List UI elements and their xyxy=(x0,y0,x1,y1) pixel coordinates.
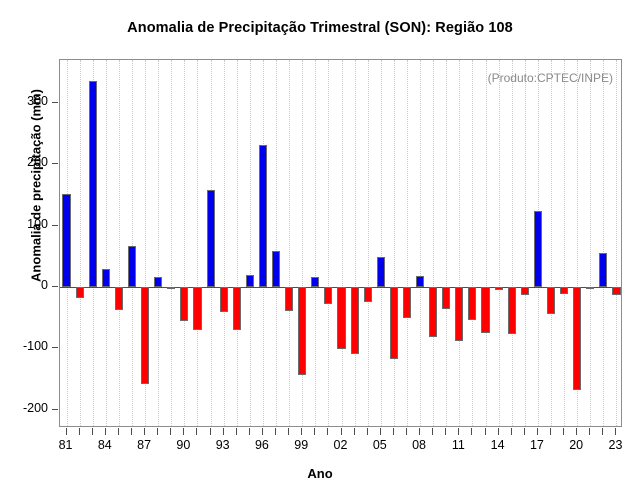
x-tick xyxy=(236,428,237,435)
x-tick-label: 96 xyxy=(247,438,277,452)
gridline xyxy=(603,60,604,426)
y-tick-label: -100 xyxy=(0,339,48,353)
x-tick xyxy=(341,428,342,435)
x-tick xyxy=(432,428,433,435)
x-axis-title: Ano xyxy=(0,466,640,481)
bar-94 xyxy=(233,287,241,330)
gridline xyxy=(355,60,356,426)
gridline xyxy=(250,60,251,426)
x-tick-label: 02 xyxy=(326,438,356,452)
bar-93 xyxy=(220,287,228,312)
x-tick-label: 84 xyxy=(90,438,120,452)
chart-title: Anomalia de Precipitação Trimestral (SON… xyxy=(0,20,640,36)
bar-02 xyxy=(337,287,345,349)
x-tick xyxy=(550,428,551,435)
bar-19 xyxy=(560,287,568,294)
gridline xyxy=(381,60,382,426)
bar-04 xyxy=(364,287,372,302)
gridline xyxy=(106,60,107,426)
x-tick xyxy=(210,428,211,435)
x-tick xyxy=(157,428,158,435)
gridline xyxy=(499,60,500,426)
x-tick xyxy=(301,428,302,435)
gridline xyxy=(315,60,316,426)
y-tick xyxy=(52,102,58,103)
x-tick xyxy=(589,428,590,435)
gridline xyxy=(459,60,460,426)
x-tick-label: 05 xyxy=(365,438,395,452)
bar-07 xyxy=(403,287,411,318)
x-tick xyxy=(393,428,394,435)
x-tick xyxy=(288,428,289,435)
bar-96 xyxy=(259,145,267,287)
x-tick xyxy=(458,428,459,435)
bar-82 xyxy=(76,287,84,298)
bar-92 xyxy=(207,190,215,287)
x-tick xyxy=(170,428,171,435)
gridline xyxy=(158,60,159,426)
bar-87 xyxy=(141,287,149,384)
x-tick xyxy=(196,428,197,435)
bar-11 xyxy=(455,287,463,341)
gridline xyxy=(289,60,290,426)
x-tick xyxy=(485,428,486,435)
gridline xyxy=(328,60,329,426)
gridline xyxy=(237,60,238,426)
bar-85 xyxy=(115,287,123,310)
x-tick xyxy=(275,428,276,435)
x-tick xyxy=(498,428,499,435)
x-tick xyxy=(445,428,446,435)
x-tick xyxy=(537,428,538,435)
bar-18 xyxy=(547,287,555,314)
bar-98 xyxy=(285,287,293,311)
bar-01 xyxy=(324,287,332,304)
gridline xyxy=(590,60,591,426)
gridline xyxy=(551,60,552,426)
y-tick xyxy=(52,347,58,348)
bar-17 xyxy=(534,211,542,287)
x-tick xyxy=(524,428,525,435)
x-tick xyxy=(563,428,564,435)
bar-91 xyxy=(193,287,201,331)
bar-81 xyxy=(62,194,70,287)
gridline xyxy=(616,60,617,426)
gridline xyxy=(394,60,395,426)
x-tick xyxy=(419,428,420,435)
y-tick-label: -200 xyxy=(0,401,48,415)
plot-frame: (Produto:CPTEC/INPE) xyxy=(59,59,622,427)
x-tick-label: 81 xyxy=(51,438,81,452)
gridline xyxy=(564,60,565,426)
x-tick xyxy=(511,428,512,435)
bar-12 xyxy=(468,287,476,320)
x-tick xyxy=(615,428,616,435)
x-tick xyxy=(249,428,250,435)
bar-14 xyxy=(495,287,503,290)
bar-16 xyxy=(521,287,529,295)
gridline xyxy=(197,60,198,426)
gridline xyxy=(512,60,513,426)
y-tick xyxy=(52,163,58,164)
x-tick xyxy=(79,428,80,435)
x-tick-label: 87 xyxy=(129,438,159,452)
gridline xyxy=(132,60,133,426)
x-tick xyxy=(118,428,119,435)
x-tick xyxy=(471,428,472,435)
x-tick xyxy=(92,428,93,435)
x-tick xyxy=(262,428,263,435)
bar-10 xyxy=(442,287,450,309)
bar-99 xyxy=(298,287,306,375)
gridline xyxy=(472,60,473,426)
bar-84 xyxy=(102,269,110,287)
x-tick-label: 17 xyxy=(522,438,552,452)
gridline xyxy=(224,60,225,426)
bar-89 xyxy=(167,287,175,289)
x-tick-label: 08 xyxy=(404,438,434,452)
gridline xyxy=(446,60,447,426)
bar-86 xyxy=(128,246,136,286)
bar-06 xyxy=(390,287,398,359)
bar-20 xyxy=(573,287,581,390)
x-tick-label: 90 xyxy=(168,438,198,452)
bar-09 xyxy=(429,287,437,337)
bar-97 xyxy=(272,251,280,287)
chart-container: Anomalia de Precipitação Trimestral (SON… xyxy=(0,0,640,500)
gridline xyxy=(407,60,408,426)
x-tick xyxy=(380,428,381,435)
bar-13 xyxy=(481,287,489,333)
x-tick xyxy=(406,428,407,435)
gridline xyxy=(433,60,434,426)
gridline xyxy=(184,60,185,426)
x-tick xyxy=(576,428,577,435)
bar-08 xyxy=(416,276,424,287)
gridline xyxy=(276,60,277,426)
bar-90 xyxy=(180,287,188,321)
bar-83 xyxy=(89,81,97,286)
x-tick xyxy=(105,428,106,435)
x-tick-label: 99 xyxy=(286,438,316,452)
bar-23 xyxy=(612,287,620,295)
bar-88 xyxy=(154,277,162,287)
product-annotation: (Produto:CPTEC/INPE) xyxy=(488,71,613,85)
gridline xyxy=(486,60,487,426)
gridline xyxy=(119,60,120,426)
x-tick-label: 11 xyxy=(443,438,473,452)
x-tick xyxy=(131,428,132,435)
bar-00 xyxy=(311,277,319,287)
gridline xyxy=(171,60,172,426)
bar-05 xyxy=(377,257,385,287)
gridline xyxy=(342,60,343,426)
x-tick-label: 23 xyxy=(600,438,630,452)
x-tick-label: 93 xyxy=(208,438,238,452)
x-tick xyxy=(602,428,603,435)
y-tick xyxy=(52,225,58,226)
gridline xyxy=(525,60,526,426)
x-tick xyxy=(66,428,67,435)
x-tick xyxy=(367,428,368,435)
bar-15 xyxy=(508,287,516,334)
y-axis-title: Anomalia de precipitação (mm) xyxy=(29,56,44,316)
x-tick-label: 14 xyxy=(483,438,513,452)
y-tick xyxy=(52,409,58,410)
gridline xyxy=(368,60,369,426)
x-tick xyxy=(354,428,355,435)
x-tick xyxy=(223,428,224,435)
bar-03 xyxy=(351,287,359,354)
x-tick xyxy=(183,428,184,435)
x-tick xyxy=(314,428,315,435)
x-tick xyxy=(144,428,145,435)
x-tick-label: 20 xyxy=(561,438,591,452)
bar-22 xyxy=(599,253,607,287)
bar-21 xyxy=(586,287,594,289)
gridline xyxy=(80,60,81,426)
y-tick xyxy=(52,286,58,287)
gridline xyxy=(420,60,421,426)
bar-95 xyxy=(246,275,254,287)
x-tick xyxy=(327,428,328,435)
